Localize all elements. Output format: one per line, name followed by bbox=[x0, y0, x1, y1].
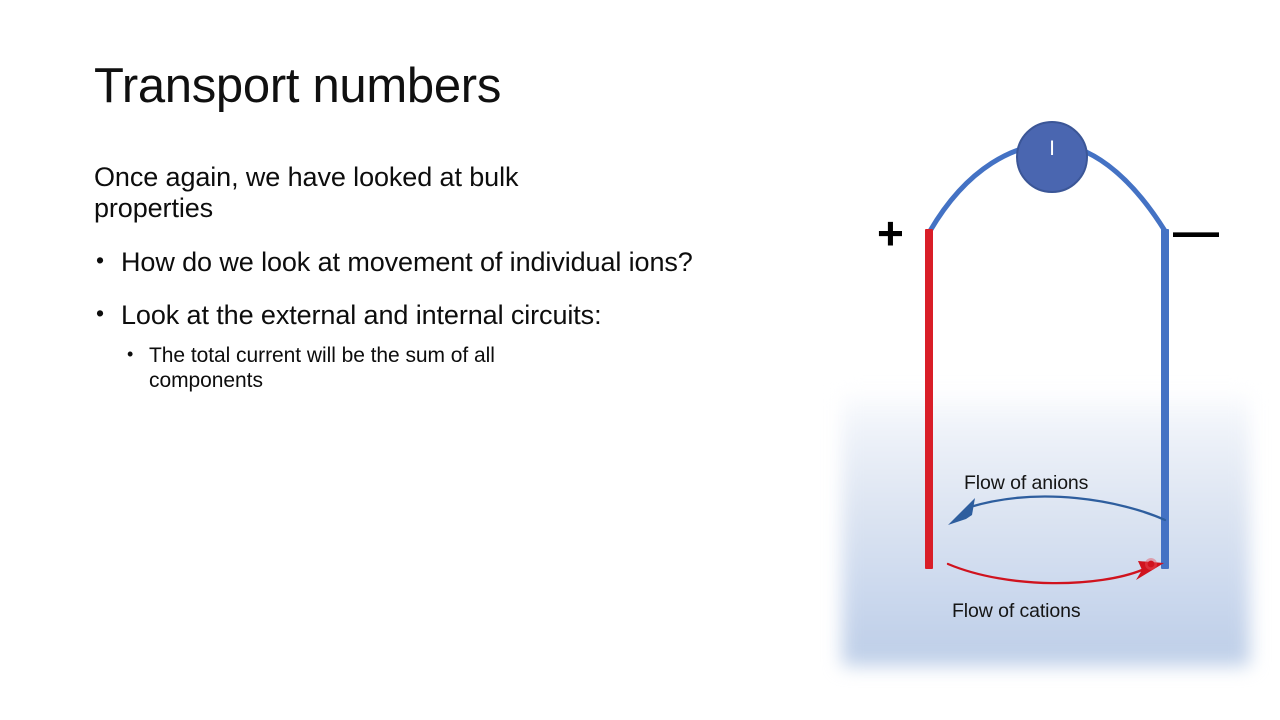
positive-terminal-sign: + bbox=[877, 210, 904, 256]
ammeter-circle bbox=[1017, 122, 1087, 192]
negative-terminal-sign: — bbox=[1173, 208, 1219, 254]
anion-flow-arrow-line bbox=[970, 497, 1165, 520]
cation-marker-dot bbox=[1148, 561, 1155, 568]
sub-bullet-text: The total current will be the sum of all… bbox=[149, 344, 579, 394]
electrochemical-cell-diagram: I + — Flow of anions Flow of cations bbox=[820, 100, 1260, 690]
slide-canvas: Transport numbers Once again, we have lo… bbox=[0, 0, 1280, 720]
anion-flow-label: Flow of anions bbox=[964, 472, 1088, 495]
list-item: How do we look at movement of individual… bbox=[94, 247, 734, 279]
page-title: Transport numbers bbox=[94, 60, 734, 114]
bullet-list: How do we look at movement of individual… bbox=[94, 247, 734, 394]
bullet-text: How do we look at movement of individual… bbox=[121, 247, 711, 279]
list-item: Look at the external and internal circui… bbox=[94, 300, 734, 394]
anion-flow-arrowhead bbox=[948, 498, 975, 525]
slide-text-column: Transport numbers Once again, we have lo… bbox=[94, 60, 734, 415]
list-item: The total current will be the sum of all… bbox=[121, 344, 734, 394]
sub-bullet-list: The total current will be the sum of all… bbox=[121, 344, 734, 394]
cation-flow-arrow-line bbox=[948, 564, 1142, 583]
lead-paragraph: Once again, we have looked at bulk prope… bbox=[94, 162, 564, 225]
bullet-text: Look at the external and internal circui… bbox=[121, 300, 711, 332]
anode-electrode bbox=[925, 229, 933, 569]
cation-flow-label: Flow of cations bbox=[952, 600, 1081, 623]
